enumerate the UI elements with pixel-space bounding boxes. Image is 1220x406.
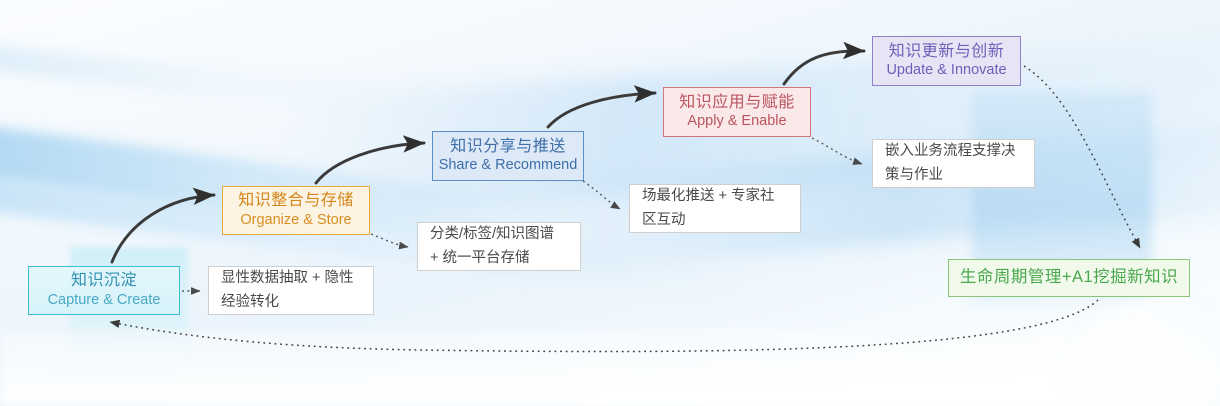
detail-line: 嵌入业务流程支撑决	[885, 140, 1022, 163]
stage-label-en: Update & Innovate	[886, 62, 1006, 79]
detail-line: 区互动	[642, 209, 788, 232]
detail-link-share	[583, 181, 620, 209]
diagram-canvas: 知识沉淀 Capture & Create 知识整合与存储 Organize &…	[0, 0, 1220, 406]
detail-line: 策与作业	[885, 164, 1022, 187]
stage-node-organize[interactable]: 知识整合与存储 Organize & Store	[222, 186, 370, 235]
flow-arrow-share-to-apply	[548, 93, 655, 127]
loop-link-update-to-lifecycle	[1024, 66, 1140, 248]
stage-node-capture[interactable]: 知识沉淀 Capture & Create	[28, 266, 180, 315]
stage-node-apply[interactable]: 知识应用与赋能 Apply & Enable	[663, 87, 811, 137]
stage-label-cn: 知识沉淀	[71, 272, 137, 291]
detail-link-organize	[371, 234, 408, 247]
flow-arrow-organize-to-share	[316, 143, 424, 183]
connector-layer	[0, 0, 1220, 406]
detail-line: 分类/标签/知识图谱	[430, 223, 568, 246]
stage-label-cn: 知识分享与推送	[450, 138, 566, 157]
stage-label-cn: 知识整合与存储	[238, 192, 354, 211]
detail-line: + 统一平台存储	[430, 247, 568, 270]
stage-node-share[interactable]: 知识分享与推送 Share & Recommend	[432, 131, 584, 181]
detail-box-organize: 分类/标签/知识图谱 + 统一平台存储	[417, 222, 581, 271]
stage-label-cn: 知识更新与创新	[889, 43, 1005, 62]
stage-label-en: Share & Recommend	[439, 157, 578, 174]
detail-line: 经验转化	[221, 291, 361, 314]
lifecycle-label: 生命周期管理+A1挖掘新知识	[960, 268, 1178, 287]
detail-line: 场最化推送 + 专家社	[642, 185, 788, 208]
detail-box-capture: 显性数据抽取 + 隐性 经验转化	[208, 266, 374, 315]
lifecycle-node[interactable]: 生命周期管理+A1挖掘新知识	[948, 259, 1190, 297]
stage-label-en: Apply & Enable	[687, 113, 786, 130]
stage-label-cn: 知识应用与赋能	[679, 94, 795, 113]
detail-link-apply	[812, 138, 862, 164]
flow-arrow-apply-to-update	[784, 51, 864, 84]
detail-line: 显性数据抽取 + 隐性	[221, 267, 361, 290]
detail-box-share: 场最化推送 + 专家社 区互动	[629, 184, 801, 233]
stage-node-update[interactable]: 知识更新与创新 Update & Innovate	[872, 36, 1021, 86]
detail-box-apply: 嵌入业务流程支撑决 策与作业	[872, 139, 1035, 188]
stage-label-en: Organize & Store	[240, 212, 351, 229]
flow-arrow-capture-to-organize	[112, 195, 214, 262]
stage-label-en: Capture & Create	[48, 292, 161, 309]
